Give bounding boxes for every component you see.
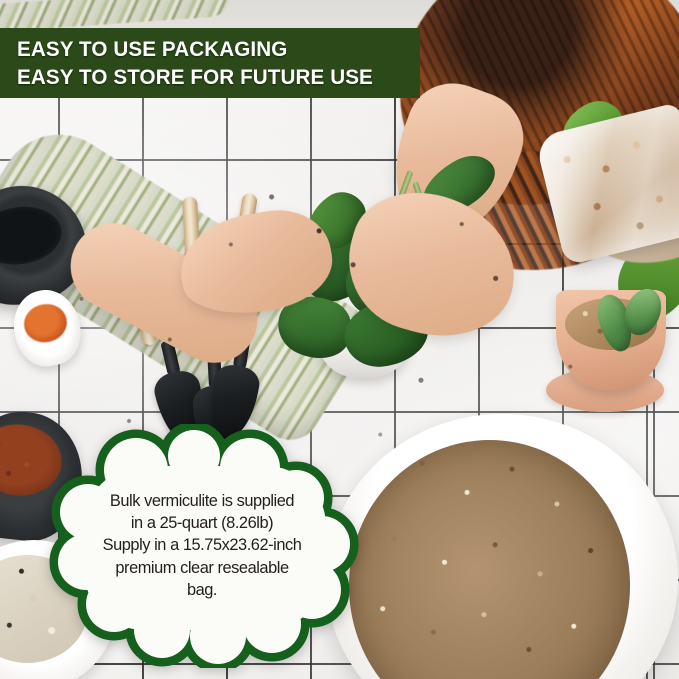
product-infographic: EASY TO USE PACKAGING EASY TO STORE FOR … (0, 0, 679, 679)
white-cup-orange-contents (20, 300, 70, 346)
headline-line-1: EASY TO USE PACKAGING (17, 36, 404, 62)
callout-line-2: in a 25-quart (8.26lb) (131, 513, 273, 534)
cloud-callout-text: Bulk vermiculite is supplied in a 25-qua… (44, 424, 360, 668)
callout-line-5: bag. (187, 580, 217, 601)
headline-banner: EASY TO USE PACKAGING EASY TO STORE FOR … (0, 28, 420, 98)
headline-line-2: EASY TO STORE FOR FUTURE USE (17, 64, 404, 90)
callout-line-3: Supply in a 15.75x23.62-inch (103, 535, 302, 556)
cloud-callout: Bulk vermiculite is supplied in a 25-qua… (44, 424, 360, 668)
callout-line-4: premium clear resealable (115, 558, 288, 579)
callout-line-1: Bulk vermiculite is supplied (110, 491, 294, 512)
vermiculite-fill (349, 440, 631, 679)
